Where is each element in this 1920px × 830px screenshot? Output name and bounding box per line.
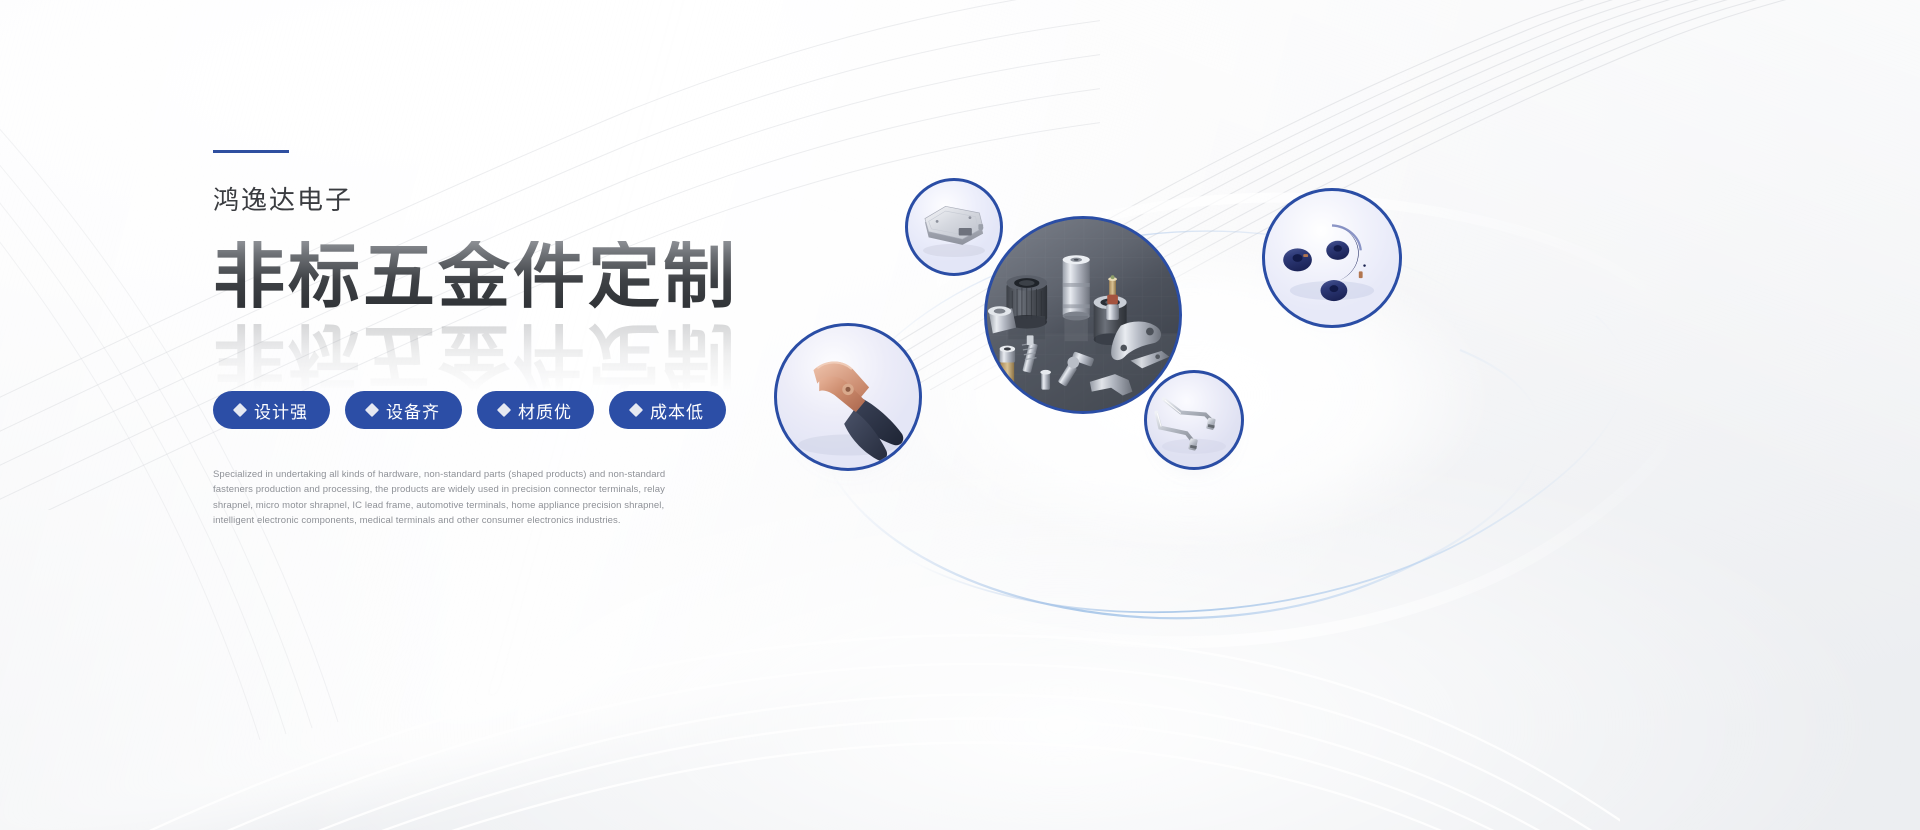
metal-housing-icon xyxy=(908,181,1000,273)
hero-banner: 鸿逸达电子 非标五金件定制 非标五金件定制 设计强 设备齐 材质优 成本低 xyxy=(0,0,1920,830)
feature-pill-design[interactable]: 设计强 xyxy=(213,391,330,429)
product-bubble-retaining-clip[interactable] xyxy=(1262,188,1402,328)
diamond-icon xyxy=(233,403,247,417)
diamond-icon xyxy=(497,403,511,417)
diamond-icon xyxy=(365,403,379,417)
copper-clamp-icon xyxy=(777,326,919,468)
feature-pill-label: 设计强 xyxy=(254,398,308,423)
terminal-pins-icon xyxy=(1147,373,1241,467)
headline-block: 非标五金件定制 非标五金件定制 xyxy=(213,241,773,369)
product-bubble-cnc-parts[interactable] xyxy=(984,216,1182,414)
product-bubble-terminal-pins[interactable] xyxy=(1144,370,1244,470)
feature-pill-material[interactable]: 材质优 xyxy=(477,391,594,429)
page-title: 非标五金件定制 xyxy=(213,241,773,313)
feature-pill-equipment[interactable]: 设备齐 xyxy=(345,391,462,429)
headline-reflection: 非标五金件定制 xyxy=(213,319,738,391)
feature-pill-label: 成本低 xyxy=(650,398,704,423)
feature-pill-cost[interactable]: 成本低 xyxy=(609,391,726,429)
feature-pill-label: 设备齐 xyxy=(386,398,440,423)
retaining-clip-icon xyxy=(1265,191,1399,325)
diamond-icon xyxy=(629,403,643,417)
product-showcase xyxy=(760,140,1890,660)
hero-copy: 鸿逸达电子 非标五金件定制 非标五金件定制 设计强 设备齐 材质优 成本低 xyxy=(213,150,773,529)
feature-pill-list: 设计强 设备齐 材质优 成本低 xyxy=(213,391,773,429)
cnc-parts-icon xyxy=(987,219,1179,411)
product-bubble-copper-clamp[interactable] xyxy=(774,323,922,471)
accent-rule xyxy=(213,150,289,153)
hero-description: Specialized in undertaking all kinds of … xyxy=(213,467,673,529)
product-bubble-metal-housing[interactable] xyxy=(905,178,1003,276)
brand-subtitle: 鸿逸达电子 xyxy=(213,187,773,213)
feature-pill-label: 材质优 xyxy=(518,398,572,423)
